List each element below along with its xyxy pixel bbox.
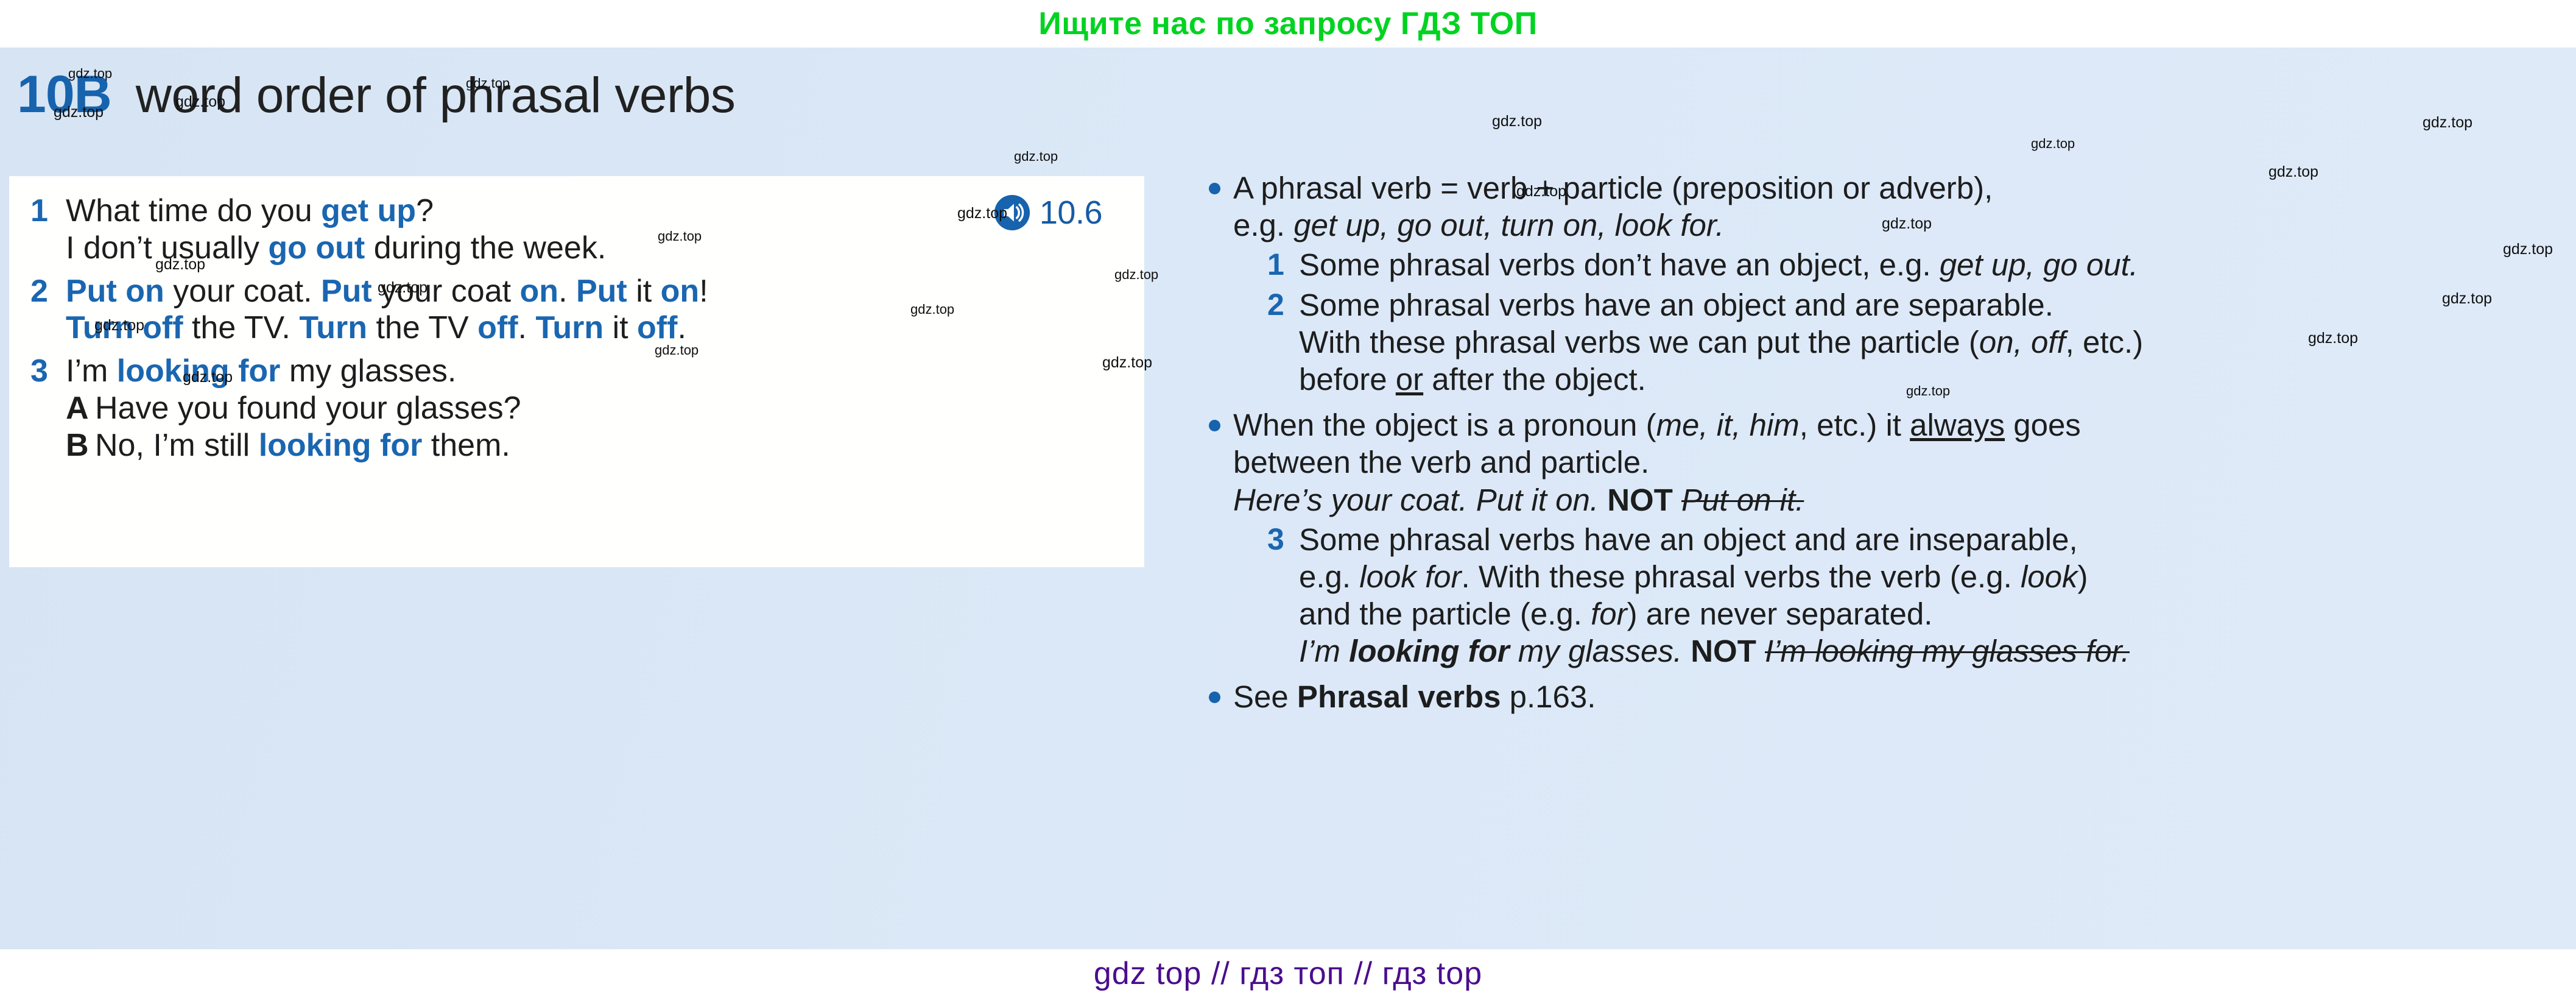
text-run: NOT — [1691, 634, 1756, 668]
text-run: What time do you — [66, 193, 321, 228]
explanation-body: When the object is a pronoun (me, it, hi… — [1233, 406, 2573, 670]
explanation-bullet: When the object is a pronoun (me, it, hi… — [1209, 406, 2573, 670]
text-run: off — [477, 310, 518, 345]
text-run: See — [1233, 679, 1297, 714]
text-run: Put on — [66, 274, 164, 309]
explanation-line: I’m looking for my glasses. NOT I’m look… — [1299, 632, 2573, 670]
watermark: gdz.top — [2031, 136, 2075, 152]
text-run: for — [1591, 596, 1627, 631]
example-item-lines: Put on your coat. Put your coat on. Put … — [66, 273, 1119, 347]
watermark: gdz.top — [1014, 149, 1058, 165]
text-run: A phrasal verb = verb + particle (prepos… — [1233, 171, 1993, 205]
explanation-item-number: 1 — [1267, 246, 1299, 283]
explanation-line: Some phrasal verbs don’t have an object,… — [1299, 246, 2573, 283]
text-run: , etc.) it — [1800, 408, 1910, 442]
example-line: I’m looking for my glasses. — [66, 353, 1119, 390]
bullet-dot — [1209, 420, 1220, 431]
text-run: e.g. — [1299, 559, 1359, 594]
lesson-page: 10B word order of phrasal verbs 10.6 1Wh… — [0, 48, 2576, 949]
text-run: I’m — [1299, 634, 1349, 668]
unit-code: 10B — [17, 65, 111, 125]
page-title: 10B word order of phrasal verbs — [17, 65, 735, 125]
example-line: BNo, I’m still looking for them. — [66, 427, 1119, 464]
text-run: off — [637, 310, 677, 345]
text-run: them. — [422, 428, 510, 463]
bullet-dot-icon — [1209, 406, 1233, 431]
explanation-numbered-item: 2Some phrasal verbs have an object and a… — [1267, 286, 2573, 398]
text-run: Turn — [535, 310, 604, 345]
explanation-bullet: See Phrasal verbs p.163. — [1209, 678, 2573, 715]
example-item-lines: What time do you get up?I don’t usually … — [66, 193, 1119, 267]
text-run: Here’s your coat. Put it on. — [1233, 483, 1599, 517]
text-run: or — [1396, 362, 1423, 397]
bullet-dot-icon — [1209, 678, 1233, 703]
text-run — [1599, 483, 1607, 517]
text-run: p.163. — [1501, 679, 1596, 714]
text-run: goes — [2005, 408, 2081, 442]
dialogue-speaker: B — [66, 427, 95, 464]
example-card: 10.6 1What time do you get up?I don’t us… — [10, 177, 1144, 567]
example-item-number: 2 — [30, 273, 66, 310]
dialogue-speaker: A — [66, 390, 95, 427]
text-run: . — [558, 274, 576, 309]
text-run: get up, go out. — [1940, 247, 2138, 282]
bullet-dot — [1209, 183, 1220, 194]
explanation-line: A phrasal verb = verb + particle (prepos… — [1233, 169, 2573, 207]
text-run: on — [661, 274, 700, 309]
example-item: 3I’m looking for my glasses.AHave you fo… — [30, 353, 1119, 464]
explanation-item-text: Some phrasal verbs don’t have an object,… — [1299, 246, 2573, 283]
watermark: gdz.top — [2423, 114, 2472, 132]
example-item-number: 1 — [30, 193, 66, 230]
explanation-line: between the verb and particle. — [1233, 444, 2573, 481]
text-run: Some phrasal verbs have an object and ar… — [1299, 288, 2053, 322]
unit-title: word order of phrasal verbs — [136, 67, 736, 124]
example-item: 2Put on your coat. Put your coat on. Put… — [30, 273, 1119, 347]
explanation-body: A phrasal verb = verb + particle (prepos… — [1233, 169, 2573, 398]
text-run: get up — [321, 193, 416, 228]
text-run: it — [627, 274, 661, 309]
text-run: ) — [2078, 559, 2088, 594]
text-run: Some phrasal verbs have an object and ar… — [1299, 522, 2078, 557]
text-run: When the object is a pronoun ( — [1233, 408, 1656, 442]
example-list: 1What time do you get up?I don’t usually… — [30, 193, 1119, 470]
text-run: and the particle (e.g. — [1299, 596, 1591, 631]
text-run: Phrasal verbs — [1297, 679, 1501, 714]
example-item-lines: I’m looking for my glasses.AHave you fou… — [66, 353, 1119, 464]
explanation-line: and the particle (e.g. for) are never se… — [1299, 595, 2573, 632]
explanation-numbered-item: 1Some phrasal verbs don’t have an object… — [1267, 246, 2573, 283]
text-run: my glasses. — [280, 353, 456, 389]
text-run — [1682, 634, 1691, 668]
text-run: Some phrasal verbs don’t have an object,… — [1299, 247, 1940, 282]
explanation-line: When the object is a pronoun (me, it, hi… — [1233, 406, 2573, 444]
text-run: looking for — [1349, 634, 1509, 668]
text-run: Turn off — [66, 310, 183, 345]
bullet-dot — [1209, 692, 1220, 703]
text-run: , etc.) — [2066, 325, 2144, 359]
example-line: I don’t usually go out during the week. — [66, 230, 1119, 267]
text-run: . — [518, 310, 536, 345]
explanation-line: e.g. get up, go out, turn on, look for. — [1233, 207, 2573, 244]
example-line: AHave you found your glasses? — [66, 390, 1119, 427]
text-run: Put — [576, 274, 627, 309]
explanation-line: With these phrasal verbs we can put the … — [1299, 324, 2573, 361]
text-run: NOT — [1607, 483, 1673, 517]
explanation-item-text: Some phrasal verbs have an object and ar… — [1299, 286, 2573, 398]
text-run: the TV — [367, 310, 477, 345]
watermark: gdz.top — [1492, 113, 1542, 130]
text-run: With these phrasal verbs we can put the … — [1299, 325, 1979, 359]
text-run: your coat. — [164, 274, 321, 309]
explanation-line: Some phrasal verbs have an object and ar… — [1299, 286, 2573, 324]
text-run: on, off — [1979, 325, 2066, 359]
text-run: before — [1299, 362, 1396, 397]
text-run: Turn — [299, 310, 367, 345]
example-line: Turn off the TV. Turn the TV off. Turn i… — [66, 310, 1119, 347]
text-run — [1673, 483, 1681, 517]
text-run: Have you found your glasses? — [95, 391, 521, 426]
text-run: looking for — [259, 428, 423, 463]
text-run: ? — [416, 193, 434, 228]
text-run: I don’t usually — [66, 230, 268, 266]
text-run: always — [1910, 408, 2005, 442]
explanation-line: before or after the object. — [1299, 361, 2573, 398]
text-run: me, it, him — [1656, 408, 1800, 442]
text-run: after the object. — [1423, 362, 1646, 397]
text-run: look — [2021, 559, 2078, 594]
explanation-line: Some phrasal verbs have an object and ar… — [1299, 521, 2573, 558]
text-run: look for — [1359, 559, 1461, 594]
example-line: Put on your coat. Put your coat on. Put … — [66, 273, 1119, 310]
text-run: Put on it. — [1681, 483, 1804, 517]
text-run: between the verb and particle. — [1233, 445, 1649, 480]
text-run: the TV. — [183, 310, 300, 345]
explanation-line: See Phrasal verbs p.163. — [1233, 678, 2573, 715]
text-run: looking for — [117, 353, 281, 389]
example-item: 1What time do you get up?I don’t usually… — [30, 193, 1119, 267]
explanation-bullet: A phrasal verb = verb + particle (prepos… — [1209, 169, 2573, 398]
text-run: my glasses. — [1510, 634, 1682, 668]
explanation-body: See Phrasal verbs p.163. — [1233, 678, 2573, 715]
explanation-column: A phrasal verb = verb + particle (prepos… — [1209, 169, 2573, 724]
explanation-line: e.g. look for. With these phrasal verbs … — [1299, 558, 2573, 595]
explanation-item-number: 2 — [1267, 286, 1299, 323]
text-run: I’m looking my glasses for. — [1765, 634, 2130, 668]
text-run: Put — [321, 274, 372, 309]
text-run: ) are never separated. — [1627, 596, 1933, 631]
text-run: your coat — [372, 274, 520, 309]
text-run: . With these phrasal verbs the verb (e.g… — [1462, 559, 2021, 594]
text-run: go out — [268, 230, 365, 266]
text-run: I’m — [66, 353, 117, 389]
bullet-dot-icon — [1209, 169, 1233, 194]
site-footer: gdz top // гдз топ // гдз top — [0, 949, 2576, 998]
text-run: it — [604, 310, 637, 345]
promo-banner: Ищите нас по запросу ГДЗ ТОП — [0, 0, 2576, 48]
text-run: . — [677, 310, 686, 345]
text-run — [1756, 634, 1765, 668]
explanation-line: Here’s your coat. Put it on. NOT Put on … — [1233, 481, 2573, 518]
example-line: What time do you get up? — [66, 193, 1119, 230]
text-run: No, I’m still — [95, 428, 259, 463]
site-footer-text: gdz top // гдз топ // гдз top — [1094, 955, 1482, 992]
explanation-item-number: 3 — [1267, 521, 1299, 557]
text-run: ! — [699, 274, 708, 309]
explanation-numbered-item: 3Some phrasal verbs have an object and a… — [1267, 521, 2573, 670]
text-run: during the week. — [365, 230, 606, 266]
explanation-item-text: Some phrasal verbs have an object and ar… — [1299, 521, 2573, 670]
promo-banner-text: Ищите нас по запросу ГДЗ ТОП — [1038, 5, 1537, 42]
text-run: on — [520, 274, 559, 309]
example-item-number: 3 — [30, 353, 66, 390]
text-run: get up, go out, turn on, look for. — [1293, 208, 1724, 242]
text-run: e.g. — [1233, 208, 1293, 242]
